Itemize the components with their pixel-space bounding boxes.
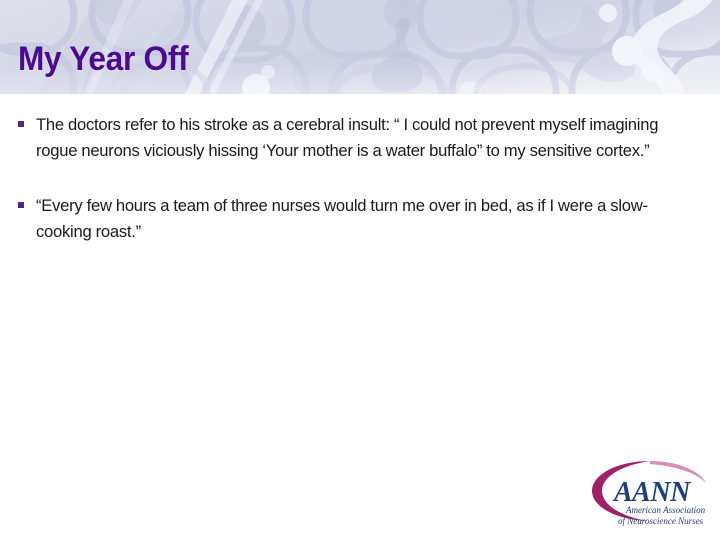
logo-acronym: AANN — [612, 477, 692, 508]
slide: My Year Off The doctors refer to his str… — [0, 0, 720, 540]
aann-logo: AANN American Association of Neuroscienc… — [578, 455, 714, 531]
bullet-text: “Every few hours a team of three nurses … — [36, 193, 700, 244]
logo-tagline-line2: of Neuroscience Nurses — [618, 516, 704, 526]
list-item: The doctors refer to his stroke as a cer… — [14, 112, 700, 163]
logo-tagline-line1: American Association — [625, 505, 706, 515]
page-title: My Year Off — [18, 40, 188, 78]
slide-header-band: My Year Off — [0, 0, 720, 94]
square-bullet-icon — [18, 121, 24, 127]
bullet-list: The doctors refer to his stroke as a cer… — [14, 112, 700, 244]
aann-logo-graphic: AANN American Association of Neuroscienc… — [578, 455, 714, 531]
list-item: “Every few hours a team of three nurses … — [14, 193, 700, 244]
bullet-text: The doctors refer to his stroke as a cer… — [36, 112, 700, 163]
square-bullet-icon — [18, 202, 24, 208]
